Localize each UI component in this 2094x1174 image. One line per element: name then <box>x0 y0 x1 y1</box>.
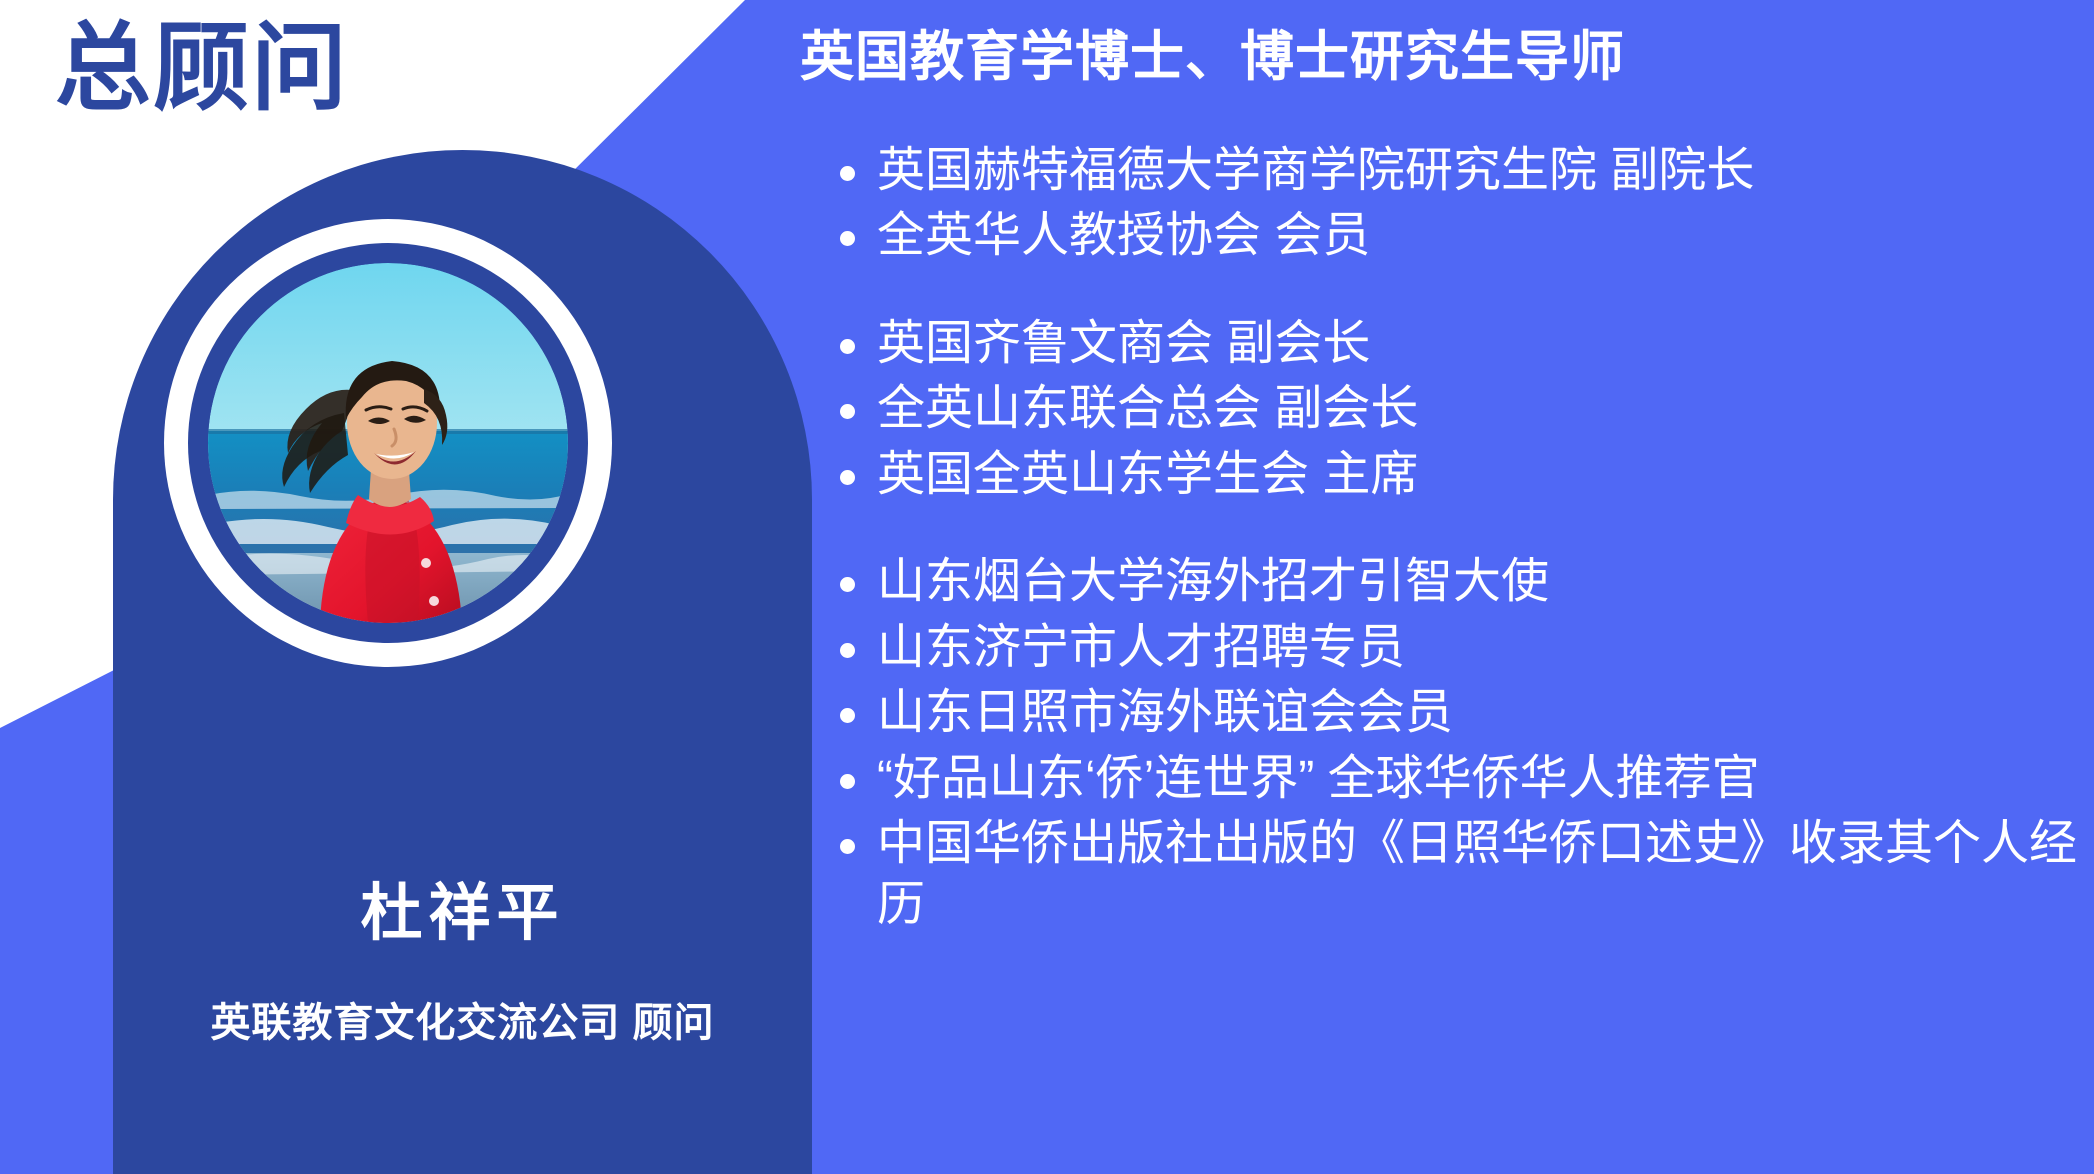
credential-item-label: 英国齐鲁文商会 副会长 <box>877 313 2094 374</box>
credential-group: 山东烟台大学海外招才引智大使山东济宁市人才招聘专员山东日照市海外联谊会会员“好品… <box>840 551 2094 936</box>
bullet-dot-icon <box>840 643 855 658</box>
bullet-dot-icon <box>840 839 855 854</box>
credential-item-label: 英国全英山东学生会 主席 <box>877 444 2094 505</box>
credential-item-label: 山东济宁市人才招聘专员 <box>877 617 2094 678</box>
avatar <box>164 219 612 667</box>
bullet-dot-icon <box>840 231 855 246</box>
bullet-dot-icon <box>840 774 855 789</box>
credential-item-label: 全英山东联合总会 副会长 <box>877 378 2094 439</box>
content-heading: 英国教育学博士、博士研究生导师 <box>800 25 1625 90</box>
credential-group: 英国齐鲁文商会 副会长全英山东联合总会 副会长英国全英山东学生会 主席 <box>840 313 2094 505</box>
person-name: 杜祥平 <box>113 880 812 948</box>
credential-item: 中国华侨出版社出版的《日照华侨口述史》收录其个人经历 <box>840 813 2094 936</box>
page-title: 总顾问 <box>55 14 349 124</box>
credential-item: 全英山东联合总会 副会长 <box>840 378 2094 439</box>
credential-item: 全英华人教授协会 会员 <box>840 205 2094 266</box>
credential-item-label: 山东日照市海外联谊会会员 <box>877 682 2094 743</box>
bullet-dot-icon <box>840 166 855 181</box>
credential-item: 山东烟台大学海外招才引智大使 <box>840 551 2094 612</box>
bullet-dot-icon <box>840 470 855 485</box>
credentials-list: 英国赫特福德大学商学院研究生院 副院长全英华人教授协会 会员英国齐鲁文商会 副会… <box>840 140 2094 940</box>
credential-item: 英国齐鲁文商会 副会长 <box>840 313 2094 374</box>
credential-item-label: 中国华侨出版社出版的《日照华侨口述史》收录其个人经历 <box>877 813 2094 936</box>
credential-item: 山东日照市海外联谊会会员 <box>840 682 2094 743</box>
bullet-dot-icon <box>840 577 855 592</box>
credential-item: 山东济宁市人才招聘专员 <box>840 617 2094 678</box>
credential-item: 英国赫特福德大学商学院研究生院 副院长 <box>840 140 2094 201</box>
credential-item: “好品山东‘侨’连世界” 全球华侨华人推荐官 <box>840 748 2094 809</box>
bullet-dot-icon <box>840 404 855 419</box>
avatar-photo <box>208 263 568 623</box>
credential-item-label: 山东烟台大学海外招才引智大使 <box>877 551 2094 612</box>
bullet-dot-icon <box>840 339 855 354</box>
credential-item-label: 全英华人教授协会 会员 <box>877 205 2094 266</box>
credential-item-label: 英国赫特福德大学商学院研究生院 副院长 <box>877 140 2094 201</box>
person-subtitle: 英联教育文化交流公司 顾问 <box>113 1000 812 1046</box>
bullet-dot-icon <box>840 708 855 723</box>
slide-root: 总顾问 <box>0 0 2094 1174</box>
credential-item: 英国全英山东学生会 主席 <box>840 444 2094 505</box>
credential-item-label: “好品山东‘侨’连世界” 全球华侨华人推荐官 <box>877 748 2094 809</box>
content-panel: 英国教育学博士、博士研究生导师 英国赫特福德大学商学院研究生院 副院长全英华人教… <box>800 0 2094 1174</box>
credential-group: 英国赫特福德大学商学院研究生院 副院长全英华人教授协会 会员 <box>840 140 2094 267</box>
